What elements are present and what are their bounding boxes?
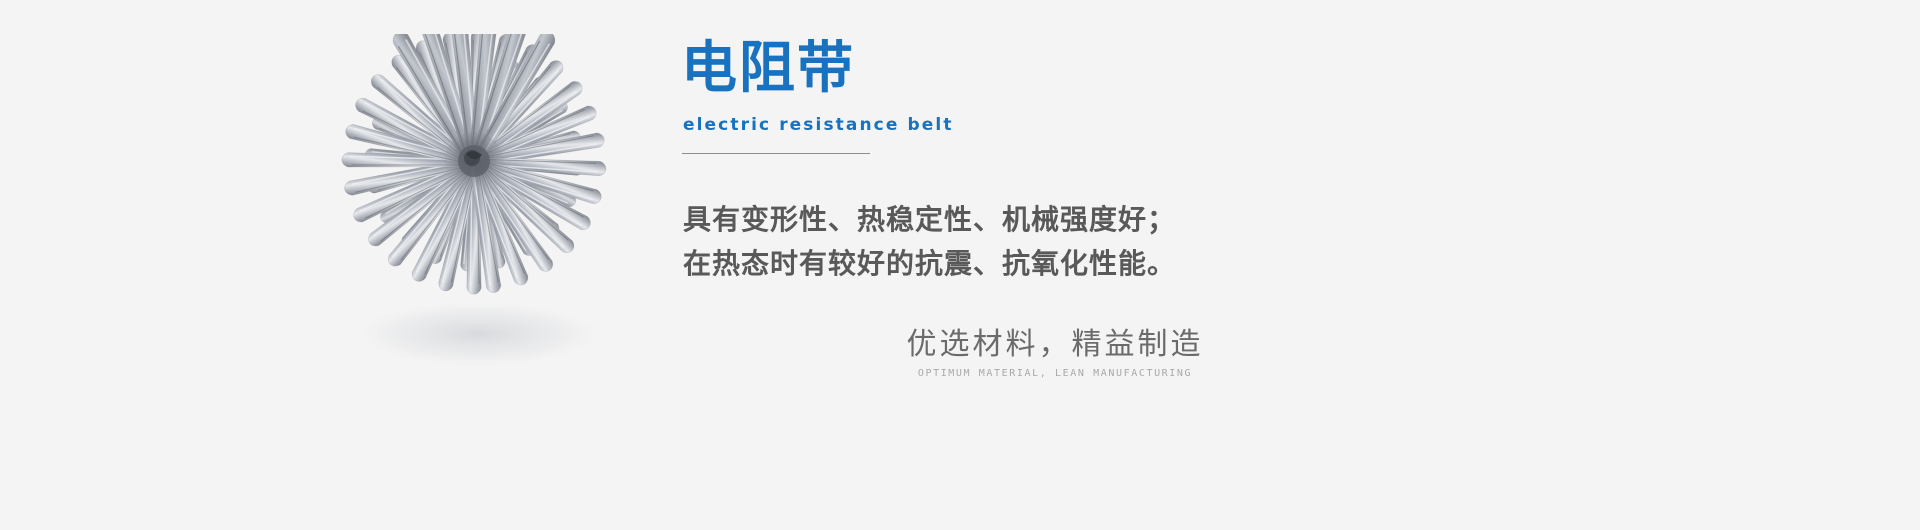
page-title: 电阻带 bbox=[681, 40, 1381, 99]
description-line-1: 具有变形性、热稳定性、机械强度好； bbox=[683, 198, 1381, 242]
slogan-english: OPTIMUM MATERIAL, LEAN MANUFACTURING bbox=[775, 368, 1335, 379]
resistance-belt-coil-photo bbox=[296, 34, 656, 374]
page-subtitle: electric resistance belt bbox=[683, 115, 1381, 135]
description-line-2: 在热态时有较好的抗震、抗氧化性能。 bbox=[683, 242, 1381, 286]
hero-text-column: 电阻带 electric resistance belt 具有变形性、热稳定性、… bbox=[681, 40, 1381, 286]
product-image bbox=[296, 34, 656, 374]
slogan-block: 优选材料，精益制造 OPTIMUM MATERIAL, LEAN MANUFAC… bbox=[775, 326, 1335, 379]
slogan-chinese: 优选材料，精益制造 bbox=[775, 326, 1335, 364]
title-divider bbox=[682, 153, 870, 154]
product-hero-banner: 电阻带 electric resistance belt 具有变形性、热稳定性、… bbox=[0, 0, 1920, 530]
product-description: 具有变形性、热稳定性、机械强度好； 在热态时有较好的抗震、抗氧化性能。 bbox=[683, 198, 1381, 286]
